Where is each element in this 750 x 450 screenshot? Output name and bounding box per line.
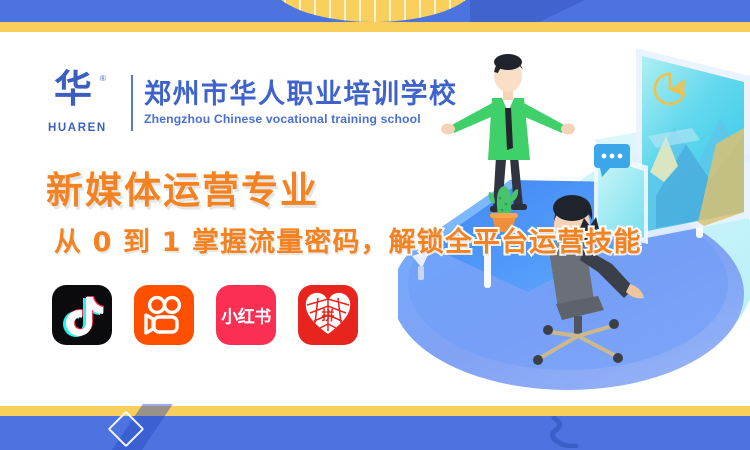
registered-trademark-icon: ® [100, 74, 106, 83]
wave-line-decor [546, 416, 590, 448]
main-headline: 新媒体运营专业 [46, 172, 319, 211]
striped-yellow-semicircle-decor [271, 0, 476, 22]
huaren-logo-mark: 华 ® HUAREN [48, 72, 120, 134]
promotion-banner: 华 ® HUAREN 郑州市华人职业培训学校 Zhengzhou Chinese… [0, 0, 750, 450]
logo-hua-character: 华 [54, 70, 91, 108]
school-name-block: 郑州市华人职业培训学校 Zhengzhou Chinese vocational… [144, 80, 458, 126]
kuaishou-camera-icon [134, 285, 194, 345]
school-logo-lockup: 华 ® HUAREN 郑州市华人职业培训学校 Zhengzhou Chinese… [48, 72, 458, 134]
social-platform-icon-row: 小红书 拼 [52, 285, 358, 345]
bottom-blue-band [0, 416, 750, 450]
logo-divider [131, 75, 133, 131]
pinduoduo-character-label: 拼 [298, 305, 358, 324]
sub-headline: 从 0 到 1 掌握流量密码，解锁全平台运营技能 [54, 228, 642, 258]
kuaishou-platform-icon[interactable] [134, 285, 194, 345]
top-yellow-band [0, 22, 750, 32]
douyin-platform-icon[interactable] [52, 285, 112, 345]
logo-pinyin-text: HUAREN [48, 122, 107, 134]
school-name-en: Zhengzhou Chinese vocational training sc… [144, 112, 458, 126]
school-name-cn: 郑州市华人职业培训学校 [144, 80, 458, 109]
monitor-display [636, 48, 750, 240]
douyin-note-icon [52, 285, 112, 345]
semicircle-stripes [271, 0, 476, 22]
pinduoduo-platform-icon[interactable]: 拼 [298, 285, 358, 345]
bottom-yellow-band [0, 406, 750, 416]
xiaohongshu-label: 小红书 [216, 303, 276, 328]
xiaohongshu-platform-icon[interactable]: 小红书 [216, 285, 276, 345]
